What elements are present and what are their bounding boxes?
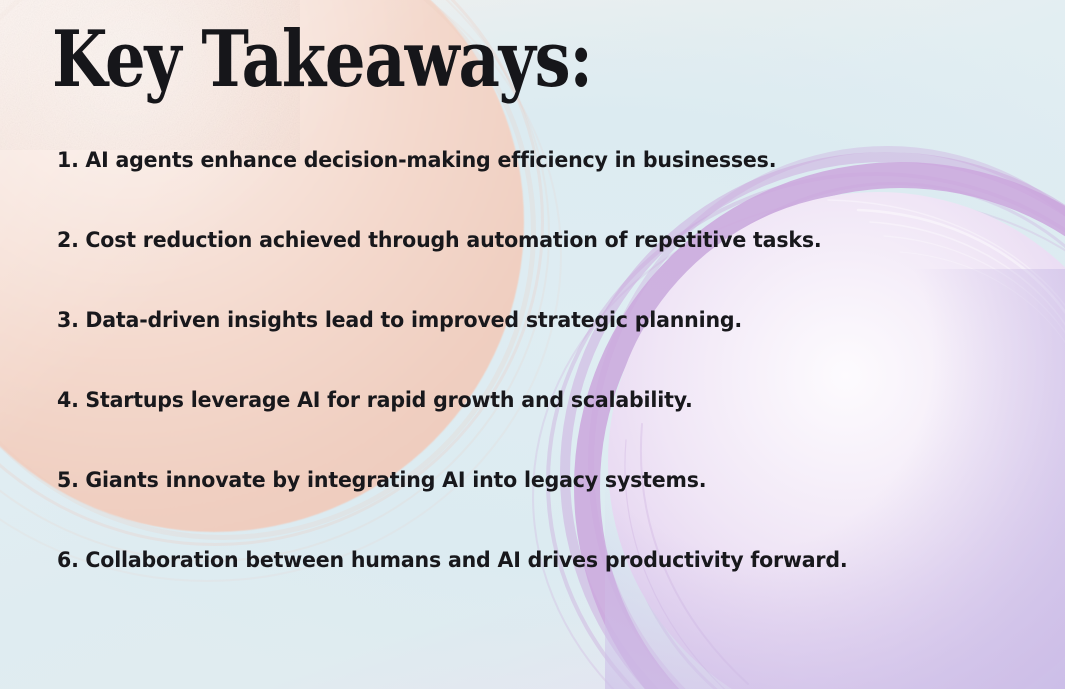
list-item: 5. Giants innovate by integrating AI int… — [57, 470, 945, 550]
list-item-text: Collaboration between humans and AI driv… — [85, 550, 847, 572]
list-item: 1. AI agents enhance decision-making eff… — [57, 150, 945, 230]
list-item-number: 1. — [57, 150, 79, 172]
list-item-text: Data-driven insights lead to improved st… — [85, 310, 742, 332]
slide-content: Key Takeaways: 1. AI agents enhance deci… — [0, 0, 1065, 689]
list-item-text: AI agents enhance decision-making effici… — [85, 150, 776, 172]
list-item-number: 2. — [57, 230, 79, 252]
list-item-number: 5. — [57, 470, 79, 492]
slide-canvas: Key Takeaways: 1. AI agents enhance deci… — [0, 0, 1065, 689]
takeaway-list: 1. AI agents enhance decision-making eff… — [57, 150, 987, 630]
list-item-number: 3. — [57, 310, 79, 332]
list-item-text: Startups leverage AI for rapid growth an… — [85, 390, 692, 412]
list-item: 3. Data-driven insights lead to improved… — [57, 310, 945, 390]
list-item-text: Cost reduction achieved through automati… — [85, 230, 821, 252]
list-item-number: 6. — [57, 550, 79, 572]
list-item-text: Giants innovate by integrating AI into l… — [85, 470, 706, 492]
list-item-number: 4. — [57, 390, 79, 412]
page-title: Key Takeaways: — [52, 21, 592, 99]
list-item: 2. Cost reduction achieved through autom… — [57, 230, 945, 310]
list-item: 4. Startups leverage AI for rapid growth… — [57, 390, 945, 470]
list-item: 6. Collaboration between humans and AI d… — [57, 550, 945, 630]
